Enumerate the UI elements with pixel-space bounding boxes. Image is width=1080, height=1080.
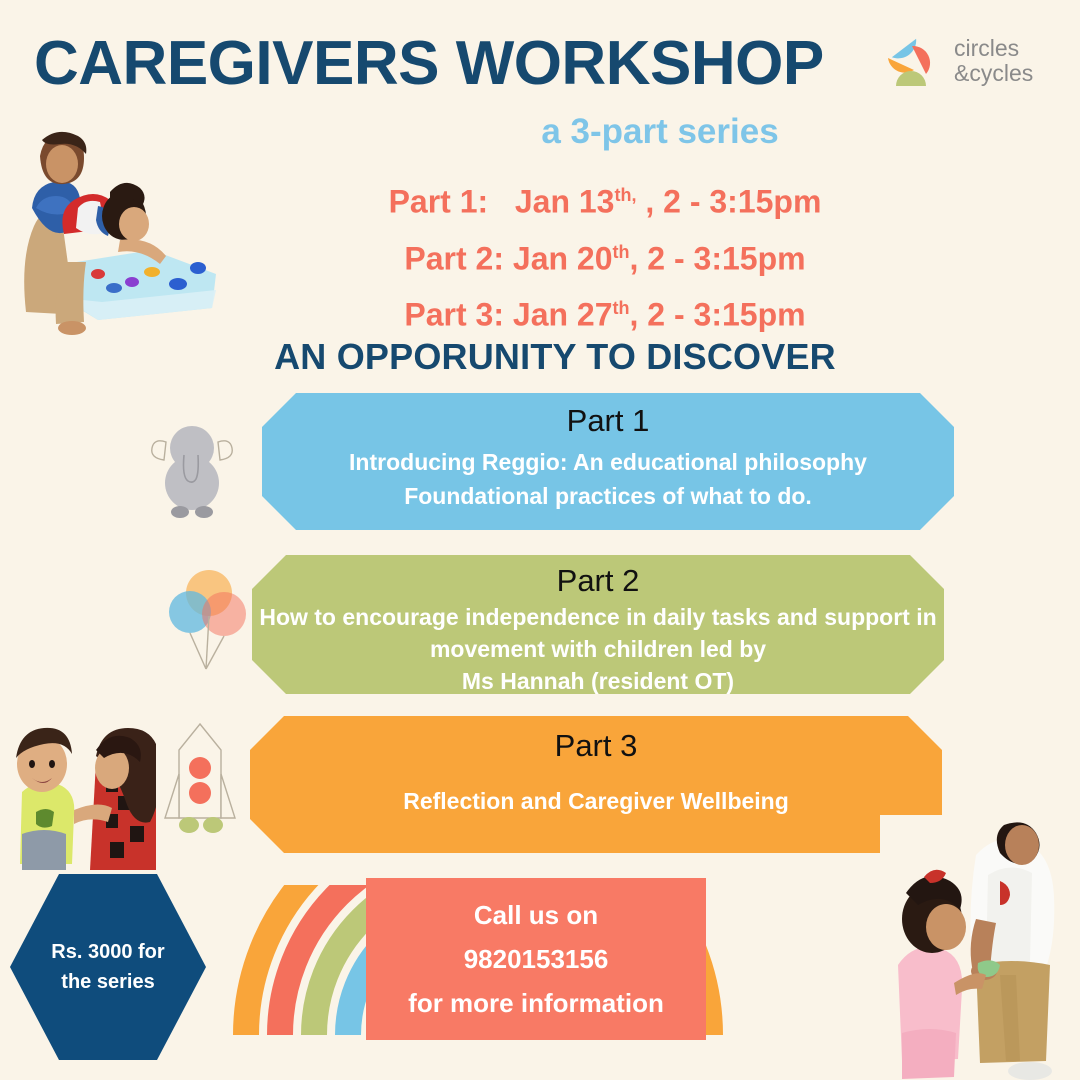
part-3-line1: Reflection and Caregiver Wellbeing xyxy=(250,784,942,818)
rocket-icon xyxy=(163,718,237,836)
date-2-month: Jan xyxy=(513,240,568,276)
photo-mother-and-girl xyxy=(880,815,1080,1080)
part-2-body: How to encourage independence in daily t… xyxy=(252,601,944,697)
date-1-label: Part 1: xyxy=(389,184,489,220)
date-1-day: 13 xyxy=(579,184,615,220)
date-1-ordinal: th, xyxy=(614,185,636,205)
call-phone-number[interactable]: 9820153156 xyxy=(464,937,609,981)
date-3-day: 27 xyxy=(577,297,613,333)
date-line-1: Part 1: Jan 13th, , 2 - 3:15pm xyxy=(130,170,1080,227)
price-text: Rs. 3000 for the series xyxy=(51,937,164,997)
part-3-label: Part 3 xyxy=(250,728,942,764)
logo-wordmark-line1: circles xyxy=(954,36,1033,61)
date-2-ordinal: th xyxy=(613,242,630,262)
part-1-banner: Part 1 Introducing Reggio: An educationa… xyxy=(262,393,954,530)
part-2-banner: Part 2 How to encourage independence in … xyxy=(252,555,944,694)
price-badge: Rs. 3000 for the series xyxy=(10,874,206,1060)
balloons-icon xyxy=(168,565,250,670)
part-1-body: Introducing Reggio: An educational philo… xyxy=(262,445,954,513)
date-3-month: Jan xyxy=(513,297,568,333)
section-heading: AN OPPORUNITY TO DISCOVER xyxy=(0,336,1080,378)
photo-boy-and-woman xyxy=(0,722,156,870)
date-line-2: Part 2: Jan 20th, 2 - 3:15pm xyxy=(130,227,1080,284)
price-line2: the series xyxy=(51,967,164,997)
date-2-day: 20 xyxy=(577,240,613,276)
call-us-box: Call us on 9820153156 for more informati… xyxy=(366,878,706,1040)
logo-wordmark-line2: &cycles xyxy=(954,61,1033,86)
logo-mark-icon xyxy=(882,34,942,92)
price-line1: Rs. 3000 for xyxy=(51,937,164,967)
date-2-time: , 2 - 3:15pm xyxy=(630,240,806,276)
part-1-line2: Foundational practices of what to do. xyxy=(262,479,954,513)
date-3-label: Part 3: xyxy=(404,297,504,333)
part-1-label: Part 1 xyxy=(262,403,954,439)
page-title: CAREGIVERS WORKSHOP xyxy=(34,28,824,99)
call-line3: for more information xyxy=(408,981,664,1025)
date-line-3: Part 3: Jan 27th, 2 - 3:15pm xyxy=(130,283,1080,340)
part-3-body: Reflection and Caregiver Wellbeing xyxy=(250,784,942,818)
date-1-month: Jan xyxy=(515,184,570,220)
poster-canvas: CAREGIVERS WORKSHOP circles &cycles a 3-… xyxy=(0,0,1080,1080)
date-2-label: Part 2: xyxy=(404,240,504,276)
photo-caregiver-child-water-table xyxy=(2,112,224,340)
date-3-ordinal: th xyxy=(613,298,630,318)
part-1-line1: Introducing Reggio: An educational philo… xyxy=(262,445,954,479)
part-2-label: Part 2 xyxy=(252,563,944,599)
date-3-time: , 2 - 3:15pm xyxy=(630,297,806,333)
part-2-line3: Ms Hannah (resident OT) xyxy=(252,665,944,697)
elephant-icon xyxy=(150,420,234,520)
part-2-line1: How to encourage independence in daily t… xyxy=(252,601,944,633)
date-1-time: , 2 - 3:15pm xyxy=(645,184,821,220)
brand-logo: circles &cycles xyxy=(882,32,1052,94)
call-line1: Call us on xyxy=(474,893,598,937)
logo-wordmark: circles &cycles xyxy=(954,36,1033,86)
part-3-banner: Part 3 Reflection and Caregiver Wellbein… xyxy=(250,716,942,853)
part-2-line2: movement with children led by xyxy=(252,633,944,665)
